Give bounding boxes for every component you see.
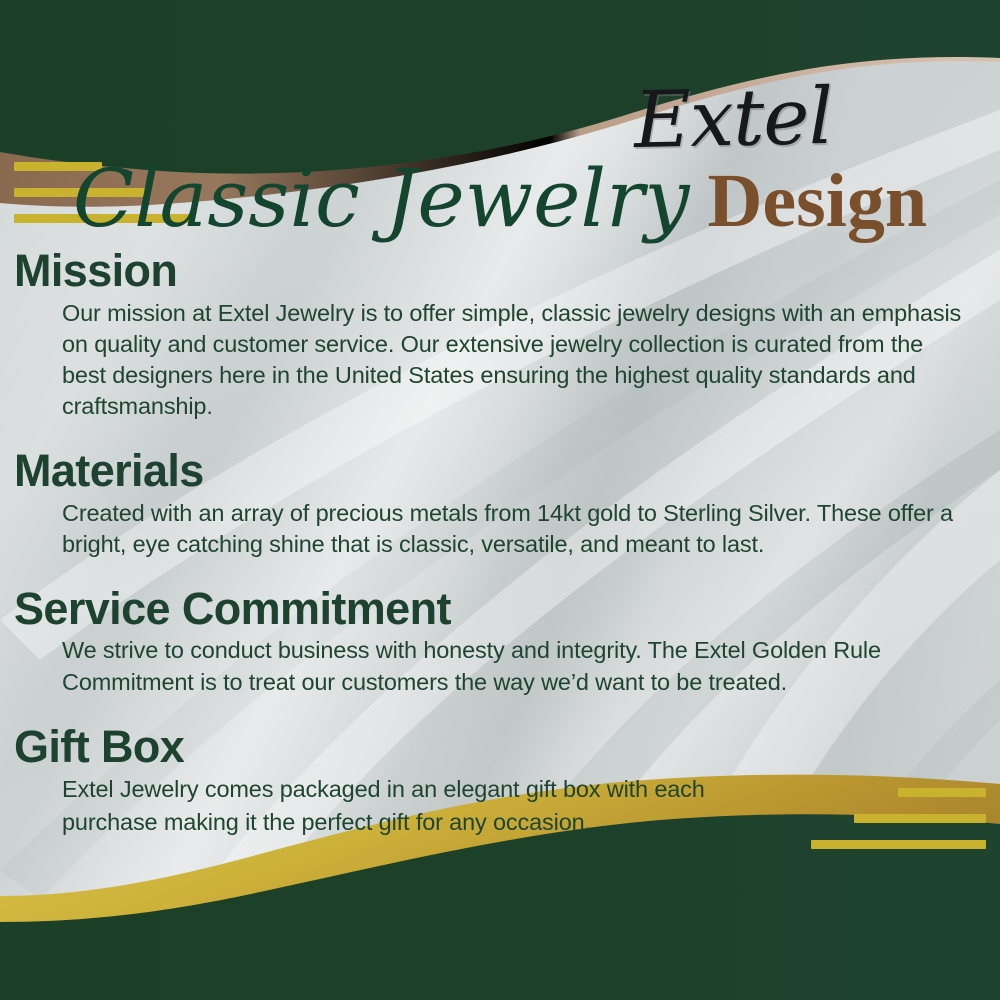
- section-body-materials: Created with an array of precious metals…: [62, 498, 966, 560]
- section-body-mission: Our mission at Extel Jewelry is to offer…: [62, 298, 966, 422]
- gold-rule-6: [811, 840, 986, 849]
- title-design: Design: [708, 159, 928, 243]
- poster-title: Classic JewelryDesign: [0, 152, 1000, 245]
- section-heading-gift-box: Gift Box: [14, 724, 1000, 771]
- section-mission: Mission Our mission at Extel Jewelry is …: [0, 248, 1000, 422]
- section-heading-materials: Materials: [14, 448, 1000, 495]
- section-heading-service-commitment: Service Commitment: [14, 586, 1000, 633]
- title-classic-jewelry: Classic Jewelry: [73, 152, 690, 245]
- section-service-commitment: Service Commitment We strive to conduct …: [0, 586, 1000, 698]
- section-materials: Materials Created with an array of preci…: [0, 448, 1000, 560]
- section-body-service-commitment: We strive to conduct business with hones…: [62, 635, 966, 697]
- content-sections: Mission Our mission at Extel Jewelry is …: [0, 248, 1000, 839]
- section-heading-mission: Mission: [14, 248, 1000, 295]
- section-body-gift-box: Extel Jewelry comes packaged in an elega…: [62, 773, 770, 839]
- poster-canvas: Extel Classic JewelryDesign Mission Our …: [0, 0, 1000, 1000]
- section-gift-box: Gift Box Extel Jewelry comes packaged in…: [0, 724, 1000, 840]
